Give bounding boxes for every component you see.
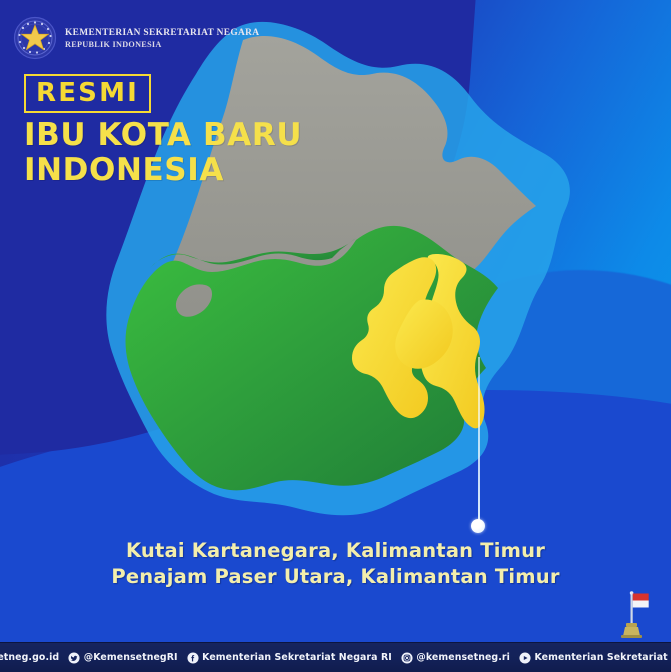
footer-item-youtube[interactable]: Kementerian Sekretariat Negara RI [519,652,671,664]
footer-label-twitter: @KemensetnegRI [84,652,178,663]
brand-text-block: KEMENTERIAN SEKRETARIAT NEGARA REPUBLIK … [65,26,259,51]
brand-header: KEMENTERIAN SEKRETARIAT NEGARA REPUBLIK … [13,16,259,60]
footer-social-bar: www.setneg.go.id @KemensetnegRI Kementer… [0,642,671,672]
indonesia-flag-monument-icon [612,588,656,643]
footer-item-instagram[interactable]: @kemensetneg.ri [401,652,510,664]
map-pin-line [478,357,480,525]
footer-item-twitter[interactable]: @KemensetnegRI [68,652,177,664]
caption-line-2: Penajam Paser Utara, Kalimantan Timur [0,564,671,590]
poster-canvas: KEMENTERIAN SEKRETARIAT NEGARA REPUBLIK … [0,0,671,672]
caption-block: Kutai Kartanegara, Kalimantan Timur Pena… [0,538,671,590]
instagram-icon [401,652,413,664]
garuda-star-emblem-icon [13,16,57,60]
twitter-icon [68,652,80,664]
ministry-name-line-2: REPUBLIK INDONESIA [65,40,259,50]
footer-item-facebook[interactable]: Kementerian Sekretariat Negara RI [187,652,392,664]
footer-label-facebook: Kementerian Sekretariat Negara RI [202,652,392,663]
resmi-badge-label: RESMI [36,78,139,108]
footer-label-instagram: @kemensetneg.ri [416,652,510,663]
facebook-icon [187,652,199,664]
headline-line-2: IBU KOTA BARU [24,118,302,153]
footer-label-youtube: Kementerian Sekretariat Negara RI [534,652,671,663]
footer-label-website: www.setneg.go.id [0,652,59,663]
youtube-icon [519,652,531,664]
map-pin-dot [471,519,485,533]
resmi-badge: RESMI [24,74,151,113]
footer-item-website[interactable]: www.setneg.go.id [0,652,59,664]
headline-line-3: INDONESIA [24,153,302,188]
caption-line-1: Kutai Kartanegara, Kalimantan Timur [0,538,671,564]
headline-block: RESMI IBU KOTA BARU INDONESIA [24,74,302,187]
ministry-name-line-1: KEMENTERIAN SEKRETARIAT NEGARA [65,28,259,40]
